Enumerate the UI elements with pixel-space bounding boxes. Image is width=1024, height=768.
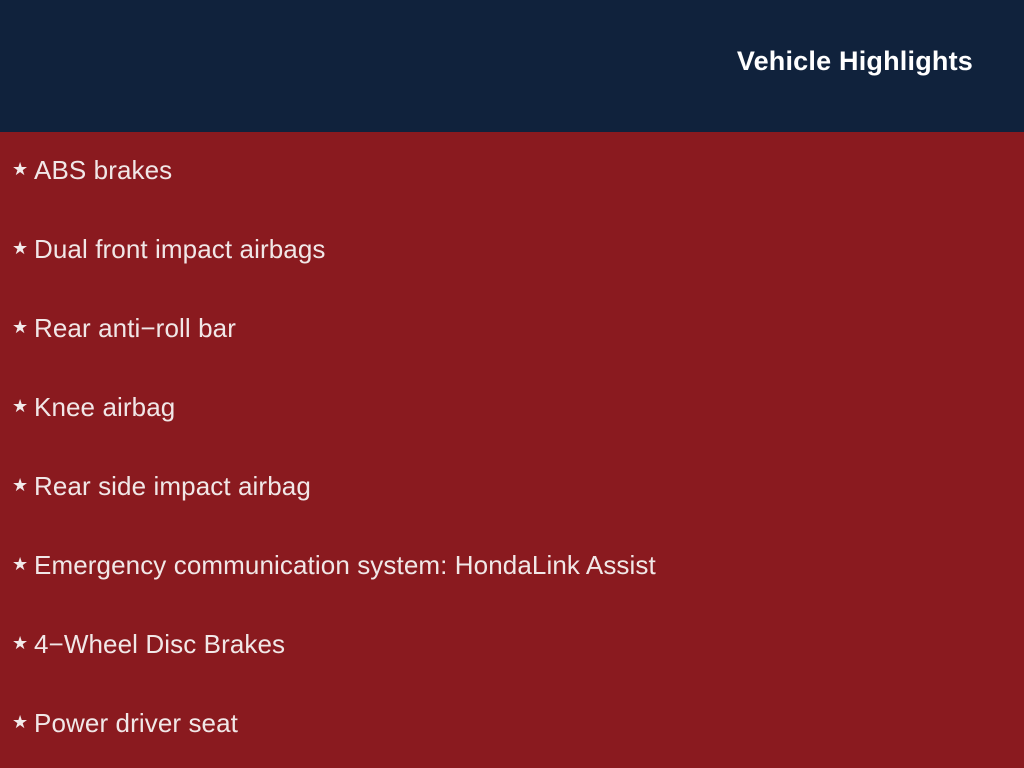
list-item-label: Rear side impact airbag [34, 473, 311, 499]
star-icon: ★ [12, 713, 34, 731]
list-item-label: Knee airbag [34, 394, 175, 420]
list-item-label: ABS brakes [34, 157, 172, 183]
list-item: ★ 4−Wheel Disc Brakes [12, 627, 285, 661]
star-icon: ★ [12, 476, 34, 494]
list-item-label: Rear anti−roll bar [34, 315, 236, 341]
list-item-label: 4−Wheel Disc Brakes [34, 631, 285, 657]
star-icon: ★ [12, 555, 34, 573]
list-item-label: Power driver seat [34, 710, 238, 736]
star-icon: ★ [12, 239, 34, 257]
list-item: ★ Dual front impact airbags [12, 232, 326, 266]
slide-header: Vehicle Highlights [0, 0, 1024, 132]
star-icon: ★ [12, 634, 34, 652]
list-item: ★ ABS brakes [12, 153, 172, 187]
list-item: ★ Power driver seat [12, 706, 238, 740]
list-item: ★ Rear anti−roll bar [12, 311, 236, 345]
star-icon: ★ [12, 397, 34, 415]
star-icon: ★ [12, 160, 34, 178]
list-item: ★ Rear side impact airbag [12, 469, 311, 503]
list-item: ★ Emergency communication system: HondaL… [12, 548, 656, 582]
star-icon: ★ [12, 318, 34, 336]
slide-canvas: Vehicle Highlights ★ ABS brakes ★ Dual f… [0, 0, 1024, 768]
list-item-label: Emergency communication system: HondaLin… [34, 552, 656, 578]
slide-body: ★ ABS brakes ★ Dual front impact airbags… [0, 132, 1024, 768]
list-item-label: Dual front impact airbags [34, 236, 326, 262]
list-item: ★ Knee airbag [12, 390, 175, 424]
page-title: Vehicle Highlights [737, 48, 973, 75]
